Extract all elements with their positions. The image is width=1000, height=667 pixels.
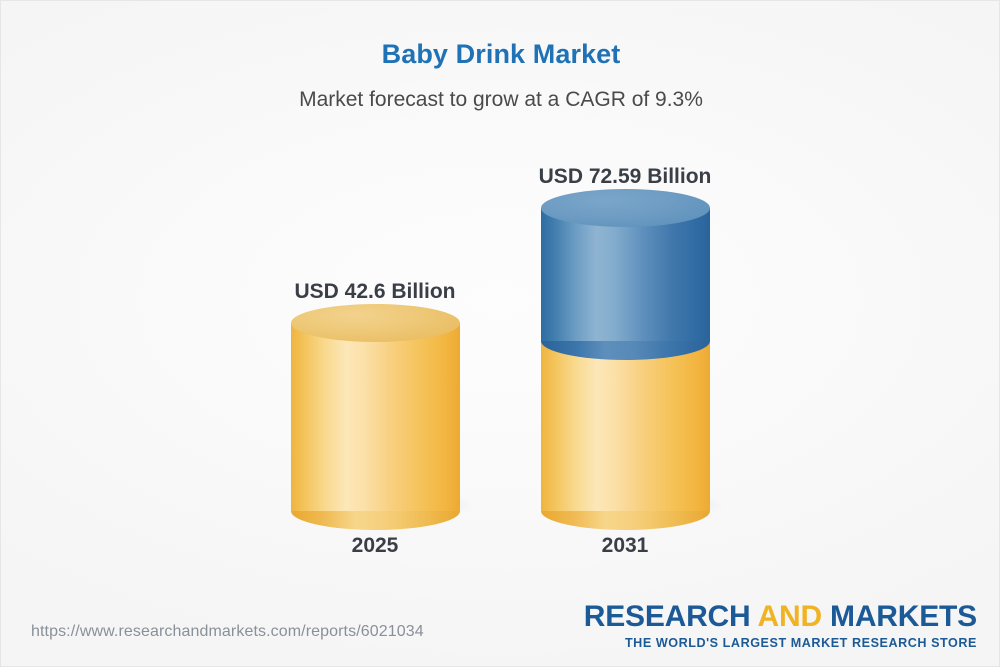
bar-segment-2031-base [541,341,710,511]
brand-name: RESEARCH AND MARKETS [584,601,977,633]
bar-body-2031-base [541,341,710,511]
page-title: Baby Drink Market [1,39,1000,70]
chart-area: Baby Drink Market Market forecast to gro… [1,1,999,666]
brand-name-research: RESEARCH [584,600,758,633]
brand-name-and: AND [758,600,822,633]
brand-tagline: THE WORLD'S LARGEST MARKET RESEARCH STOR… [584,636,977,650]
brand-name-markets: MARKETS [822,600,977,633]
bar-2025 [291,323,460,511]
bar-cap-2031 [541,189,710,227]
category-label-2031: 2031 [505,534,745,558]
brand-logo: RESEARCH AND MARKETS THE WORLD'S LARGEST… [584,601,977,650]
bar-2031 [541,208,710,511]
bar-body-2025 [291,323,460,511]
chart-subtitle: Market forecast to grow at a CAGR of 9.3… [1,88,1000,112]
bar-body-2031-growth [541,208,710,341]
bar-value-label-2025: USD 42.6 Billion [205,280,545,304]
category-label-2025: 2025 [255,534,495,558]
bar-segment-2025-base [291,323,460,511]
bar-cap-2025 [291,304,460,342]
bar-segment-2031-growth [541,208,710,341]
infographic-canvas: Baby Drink Market Market forecast to gro… [0,0,1000,667]
bar-value-label-2031: USD 72.59 Billion [455,165,795,189]
source-url[interactable]: https://www.researchandmarkets.com/repor… [31,623,424,641]
